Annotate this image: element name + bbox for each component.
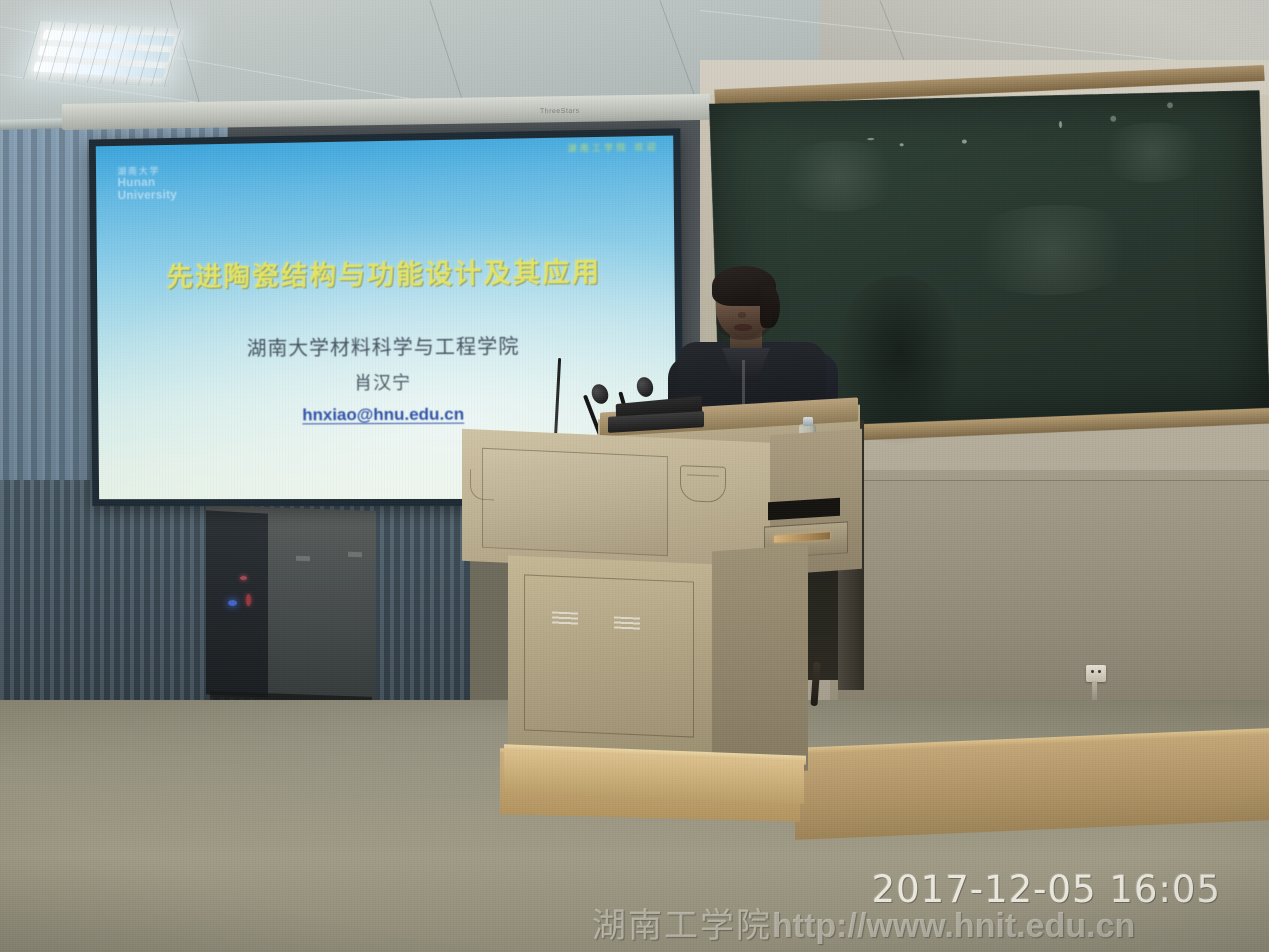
slide-presenter-name: 肖汉宁 (98, 367, 676, 397)
av-rack-led-strip (246, 594, 251, 606)
wall-power-outlet[interactable] (1086, 665, 1106, 682)
slide-title: 先进陶瓷结构与功能设计及其应用 (97, 249, 675, 295)
podium-vent-left (552, 611, 578, 626)
recessed-fluorescent-light (23, 21, 185, 87)
podium-vent-right (614, 616, 640, 631)
slide-affiliation: 湖南大学材料科学与工程学院 (98, 328, 676, 362)
av-rack-led-red (240, 576, 247, 580)
lecture-hall-photo: ThreeStars 湖南工学院 欢迎 湖南大学 Hunan Universit… (0, 0, 1269, 952)
hunan-university-logo: 湖南大学 Hunan University (117, 167, 177, 202)
slide-corner-mark: 湖南工学院 欢迎 (567, 140, 659, 155)
av-rack-front-panel[interactable] (206, 510, 268, 697)
speaker-eye-right (752, 299, 763, 304)
watermark-institution-name: 湖南工学院 (592, 906, 772, 946)
screen-brand-label: ThreeStars (540, 108, 580, 116)
watermark-url: http://www.hnit.edu.cn (772, 907, 1135, 945)
podium-cup-holder-left[interactable] (470, 470, 494, 501)
av-rack-handle[interactable] (348, 552, 362, 557)
speaker-nose (738, 312, 746, 318)
speaker-eye-left (728, 300, 739, 305)
speaker-face-shading (716, 300, 772, 340)
logo-english-line2: University (118, 188, 178, 201)
camera-watermark: 湖南工学院http://www.hnit.edu.cn (592, 898, 1135, 947)
av-rack-handle[interactable] (296, 556, 310, 561)
podium-base-right-face (712, 544, 808, 777)
podium-cup-holder[interactable] (680, 465, 726, 503)
speaker-mouth (734, 324, 752, 331)
water-bottle-cap (803, 417, 813, 426)
podium-front-panel[interactable] (482, 448, 668, 556)
av-rack-led-blue (228, 600, 237, 606)
podium-cabinet-door[interactable] (524, 574, 694, 737)
